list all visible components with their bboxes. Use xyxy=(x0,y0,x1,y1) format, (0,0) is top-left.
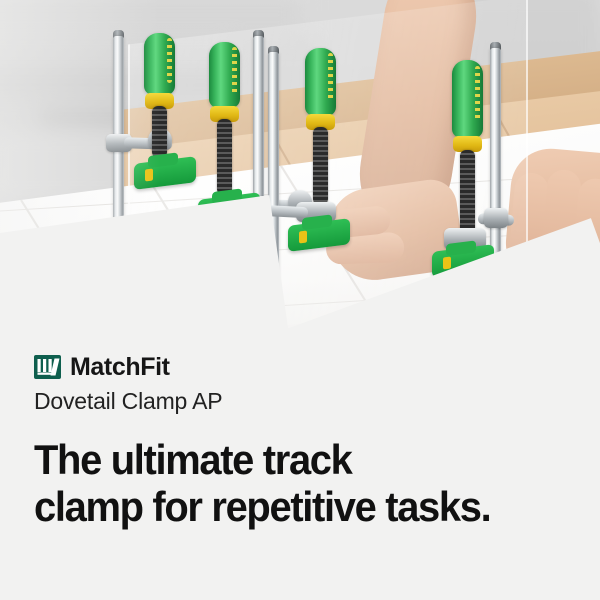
brand-lockup: MatchFit xyxy=(34,352,566,382)
product-marketing-image: MatchFit Dovetail Clamp AP The ultimate … xyxy=(0,0,600,600)
brand-name: MatchFit xyxy=(70,355,170,380)
headline-line-2: clamp for repetitive tasks. xyxy=(34,483,539,530)
headline-line-1: The ultimate track xyxy=(34,436,352,483)
headline: The ultimate track clamp for repetitive … xyxy=(34,436,539,530)
matchfit-logo-icon xyxy=(34,355,61,379)
product-name: Dovetail Clamp AP xyxy=(34,389,566,414)
text-block: MatchFit Dovetail Clamp AP The ultimate … xyxy=(0,352,600,530)
